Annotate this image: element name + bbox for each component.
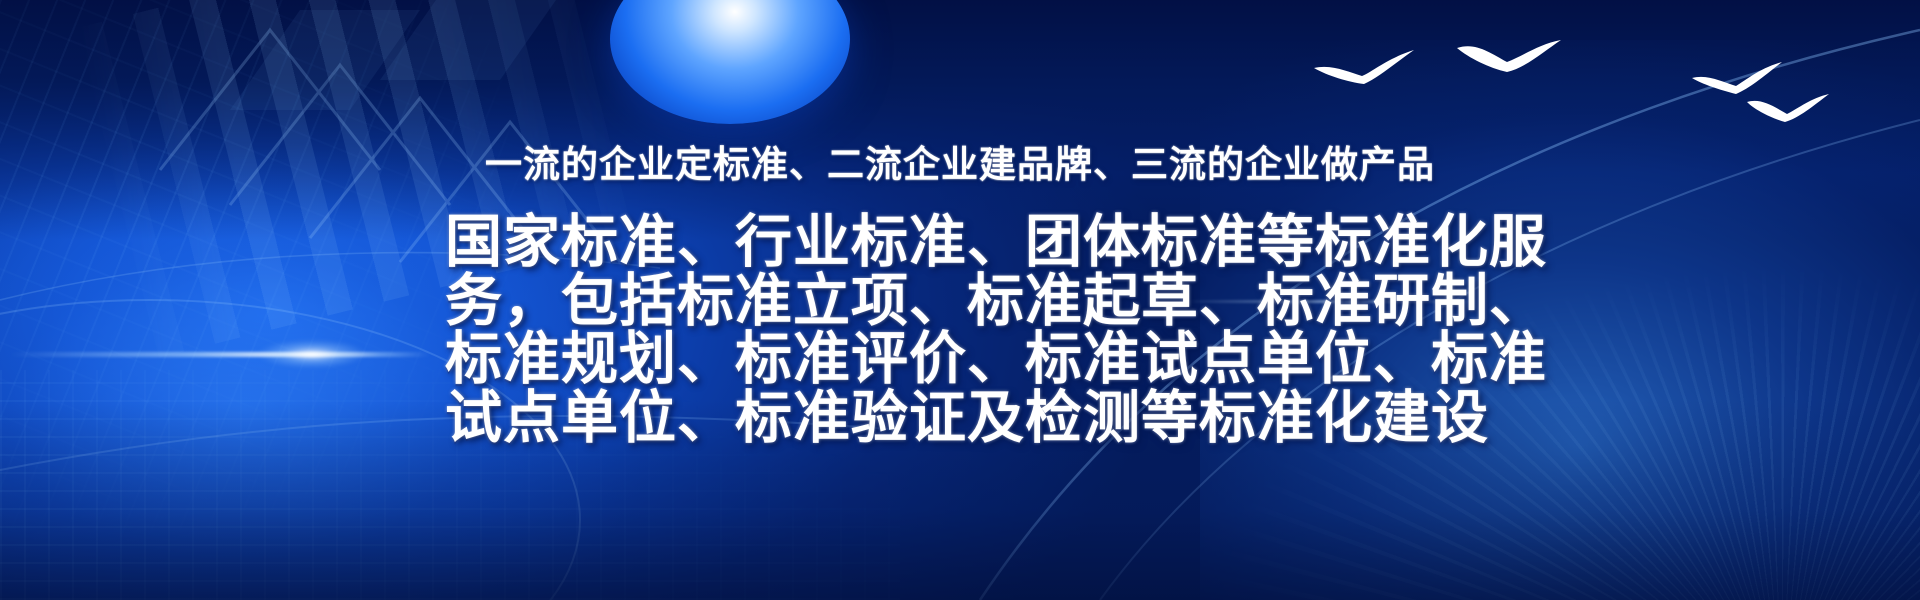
headline-line: 国家标准、行业标准、团体标准等标准化服	[445, 213, 1475, 272]
banner-tagline: 一流的企业定标准、二流企业建品牌、三流的企业做产品	[485, 146, 1435, 183]
banner-text-block: 一流的企业定标准、二流企业建品牌、三流的企业做产品 国家标准、行业标准、团体标准…	[0, 0, 1920, 600]
promo-banner: 一流的企业定标准、二流企业建品牌、三流的企业做产品 国家标准、行业标准、团体标准…	[0, 0, 1920, 600]
banner-headline: 国家标准、行业标准、团体标准等标准化服 务，包括标准立项、标准起草、标准研制、 …	[445, 213, 1475, 448]
headline-line: 务，包括标准立项、标准起草、标准研制、	[445, 272, 1475, 331]
headline-line: 试点单位、标准验证及检测等标准化建设	[445, 389, 1475, 448]
headline-line: 标准规划、标准评价、标准试点单位、标准	[445, 330, 1475, 389]
